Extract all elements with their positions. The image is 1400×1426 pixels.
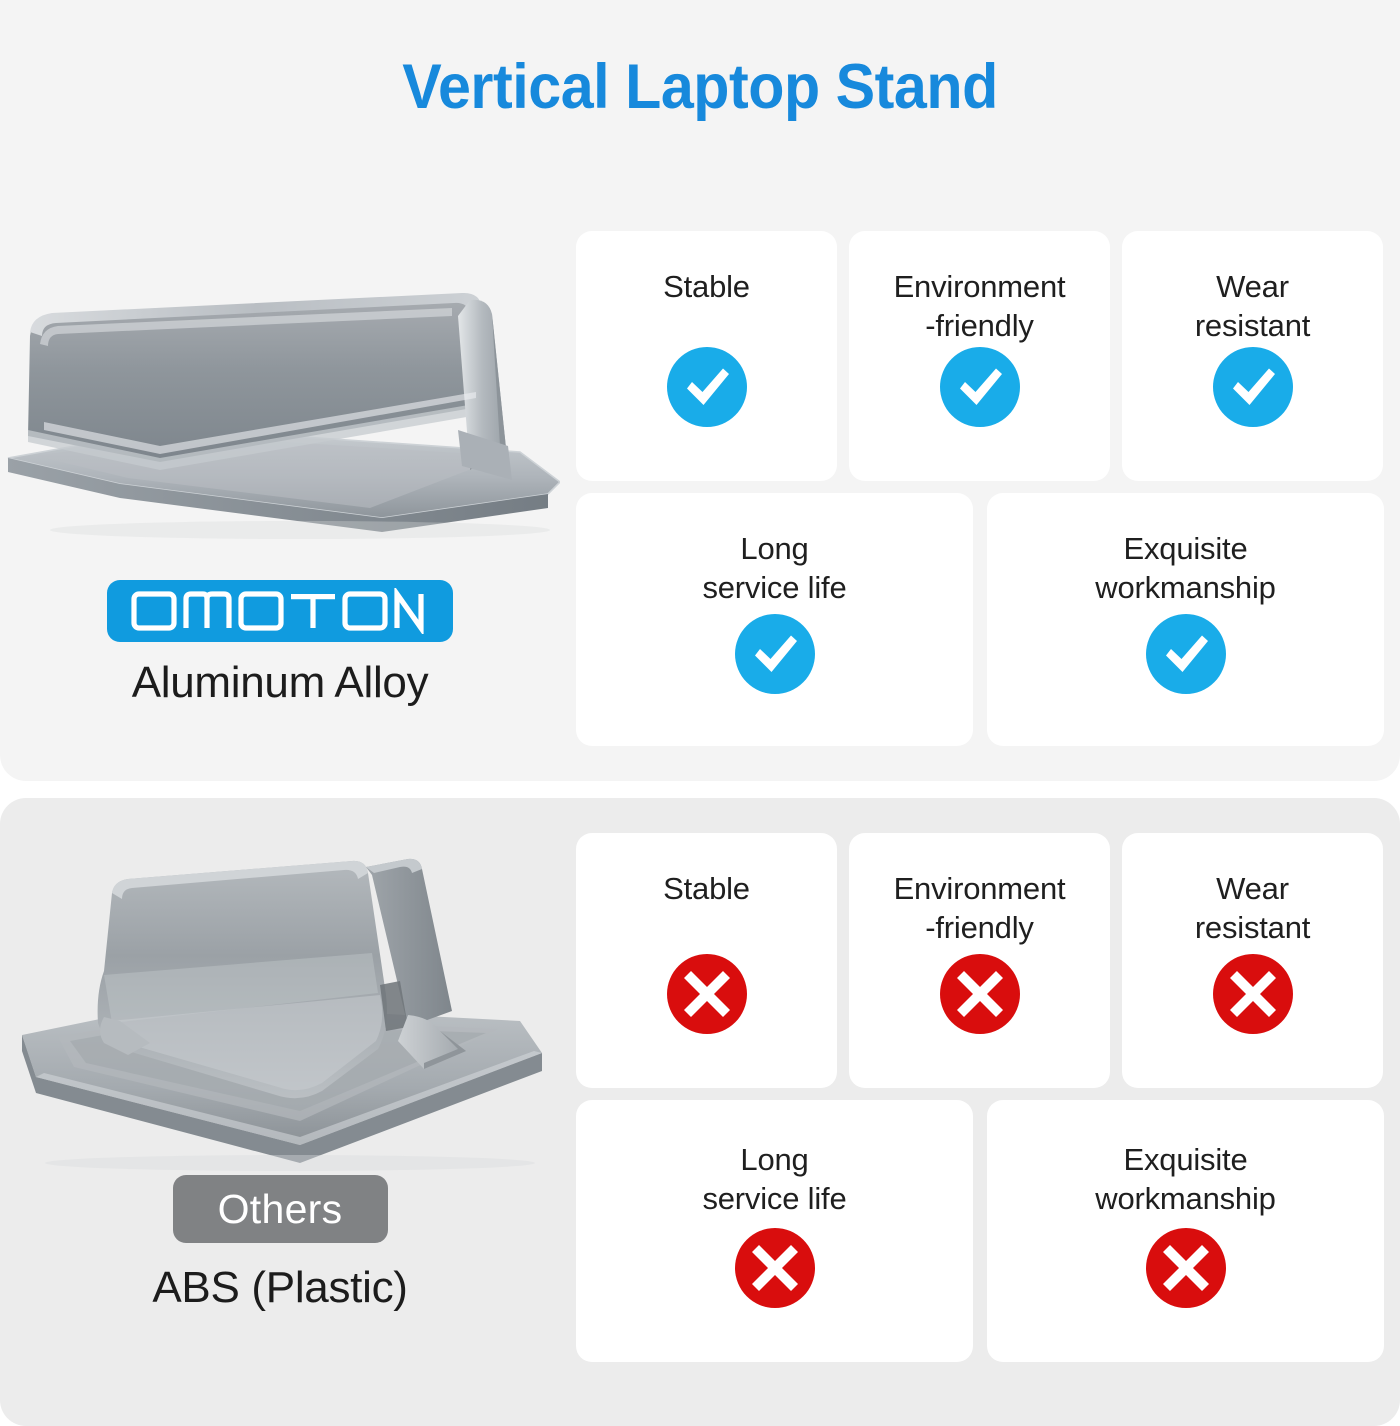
others-material-label: ABS (Plastic) (0, 1263, 560, 1313)
check-circle-icon (1144, 612, 1228, 696)
cross-circle-icon (665, 952, 749, 1036)
feature-card-exquisite-workmanship[interactable]: Exquisite workmanship (987, 1100, 1384, 1362)
feature-label: Wear resistant (1195, 267, 1310, 345)
others-product-column: Others ABS (Plastic) (0, 845, 560, 1313)
feature-card-environment-friendly[interactable]: Environment -friendly (849, 833, 1110, 1088)
omoton-product-column: Aluminum Alloy (0, 280, 560, 708)
feature-label: Exquisite workmanship (1095, 1140, 1275, 1218)
feature-label: Stable (663, 267, 750, 306)
feature-card-long-service-life[interactable]: Long service life (576, 493, 973, 746)
omoton-feature-row-2: Long service life Exquisite workmanship (576, 493, 1384, 746)
feature-card-wear-resistant[interactable]: Wear resistant (1122, 833, 1383, 1088)
check-circle-icon (665, 345, 749, 429)
plastic-stand-image (0, 845, 560, 1175)
omoton-feature-row-1: Stable Environment -friendly (576, 231, 1384, 481)
feature-card-long-service-life[interactable]: Long service life (576, 1100, 973, 1362)
omoton-logo-badge (107, 580, 453, 642)
feature-label: Environment -friendly (894, 267, 1066, 345)
feature-card-environment-friendly[interactable]: Environment -friendly (849, 231, 1110, 481)
feature-label: Stable (663, 869, 750, 908)
aluminum-stand-image (0, 280, 560, 580)
omoton-wordmark-icon (130, 588, 430, 634)
others-feature-row-2: Long service life Exquisite workmanship (576, 1100, 1384, 1362)
feature-label: Long service life (702, 529, 846, 607)
cross-circle-icon (938, 952, 1022, 1036)
feature-label: Long service life (702, 1140, 846, 1218)
omoton-feature-grid: Stable Environment -friendly (576, 231, 1384, 746)
feature-label: Wear resistant (1195, 869, 1310, 947)
feature-card-wear-resistant[interactable]: Wear resistant (1122, 231, 1383, 481)
cross-circle-icon (1211, 952, 1295, 1036)
feature-card-exquisite-workmanship[interactable]: Exquisite workmanship (987, 493, 1384, 746)
check-circle-icon (733, 612, 817, 696)
others-badge: Others (173, 1175, 388, 1243)
feature-label: Environment -friendly (894, 869, 1066, 947)
cross-circle-icon (1144, 1226, 1228, 1310)
others-feature-row-1: Stable Environment -friendly (576, 833, 1384, 1088)
check-circle-icon (938, 345, 1022, 429)
infographic-page: Vertical Laptop Stand (0, 0, 1400, 1400)
cross-circle-icon (733, 1226, 817, 1310)
check-circle-icon (1211, 345, 1295, 429)
others-feature-grid: Stable Environment -friendly (576, 833, 1384, 1362)
page-title: Vertical Laptop Stand (42, 54, 1358, 120)
feature-card-stable[interactable]: Stable (576, 833, 837, 1088)
feature-card-stable[interactable]: Stable (576, 231, 837, 481)
omoton-material-label: Aluminum Alloy (0, 658, 560, 708)
feature-label: Exquisite workmanship (1095, 529, 1275, 607)
